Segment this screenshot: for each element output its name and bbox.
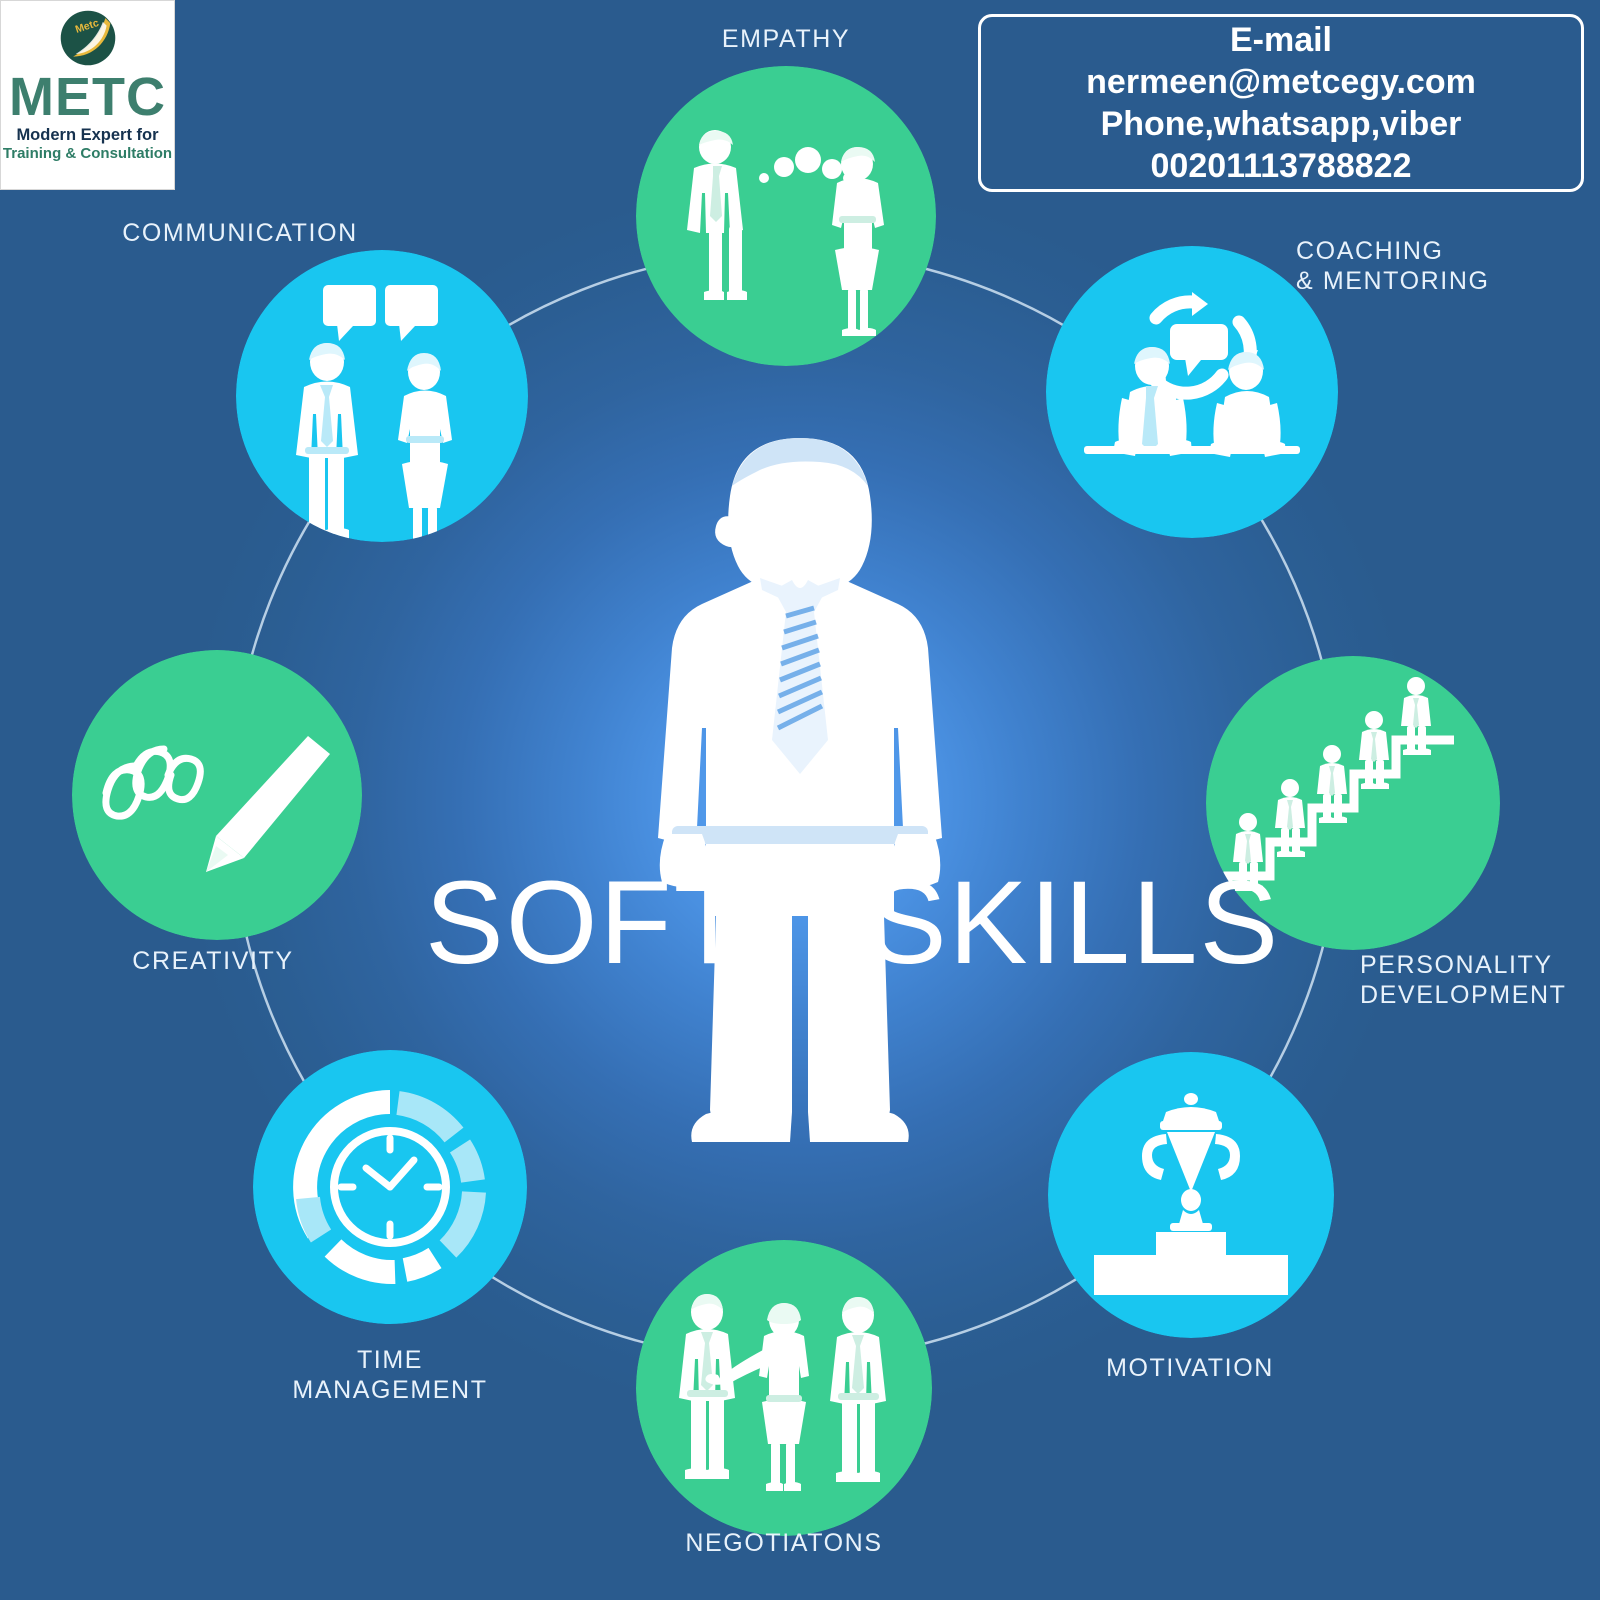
- infographic-canvas: Metc METC Modern Expert for Training & C…: [0, 0, 1600, 1600]
- node-empathy[interactable]: [636, 66, 936, 366]
- pencil-scribble-icon: [72, 650, 362, 940]
- logo-tagline-line1: Modern Expert for: [16, 126, 158, 145]
- label-creativity: CREATIVITY: [68, 946, 358, 976]
- label-motivation: MOTIVATION: [1040, 1353, 1340, 1383]
- node-communication[interactable]: [236, 250, 528, 542]
- contact-email-value: nermeen@metcegy.com: [1086, 61, 1476, 103]
- label-personality: PERSONALITY DEVELOPMENT: [1360, 950, 1600, 1010]
- label-coaching: COACHING & MENTORING: [1296, 236, 1586, 296]
- metc-emblem-icon: Metc: [57, 7, 119, 69]
- contact-phone-label: Phone,whatsapp,viber: [1101, 103, 1462, 145]
- contact-phone-value: 00201113788822: [1151, 145, 1412, 187]
- label-communication: COMMUNICATION: [60, 218, 420, 248]
- label-empathy: EMPATHY: [636, 24, 936, 54]
- node-negotiations[interactable]: [636, 1240, 932, 1536]
- clock-donut-icon: [253, 1050, 527, 1324]
- businessman-figure-icon: [600, 430, 1000, 1160]
- brand-logo: Metc METC Modern Expert for Training & C…: [0, 0, 175, 190]
- node-motivation[interactable]: [1048, 1052, 1334, 1338]
- logo-tagline-line2: Training & Consultation: [3, 145, 172, 163]
- node-creativity[interactable]: [72, 650, 362, 940]
- label-time-management: TIME MANAGEMENT: [240, 1345, 540, 1405]
- two-people-thought-dots-icon: [636, 66, 936, 366]
- label-negotiations: NEGOTIATONS: [634, 1528, 934, 1558]
- two-people-speech-bubbles-icon: [236, 250, 528, 542]
- logo-wordmark: METC: [9, 71, 166, 123]
- people-table-speech-cycle-icon: [1046, 246, 1338, 538]
- trophy-podium-icon: [1048, 1052, 1334, 1338]
- three-people-negotiating-icon: [636, 1240, 932, 1536]
- contact-email-label: E-mail: [1230, 19, 1332, 61]
- contact-info-box: E-mail nermeen@metcegy.com Phone,whatsap…: [978, 14, 1584, 192]
- node-coaching[interactable]: [1046, 246, 1338, 538]
- node-time-management[interactable]: [253, 1050, 527, 1324]
